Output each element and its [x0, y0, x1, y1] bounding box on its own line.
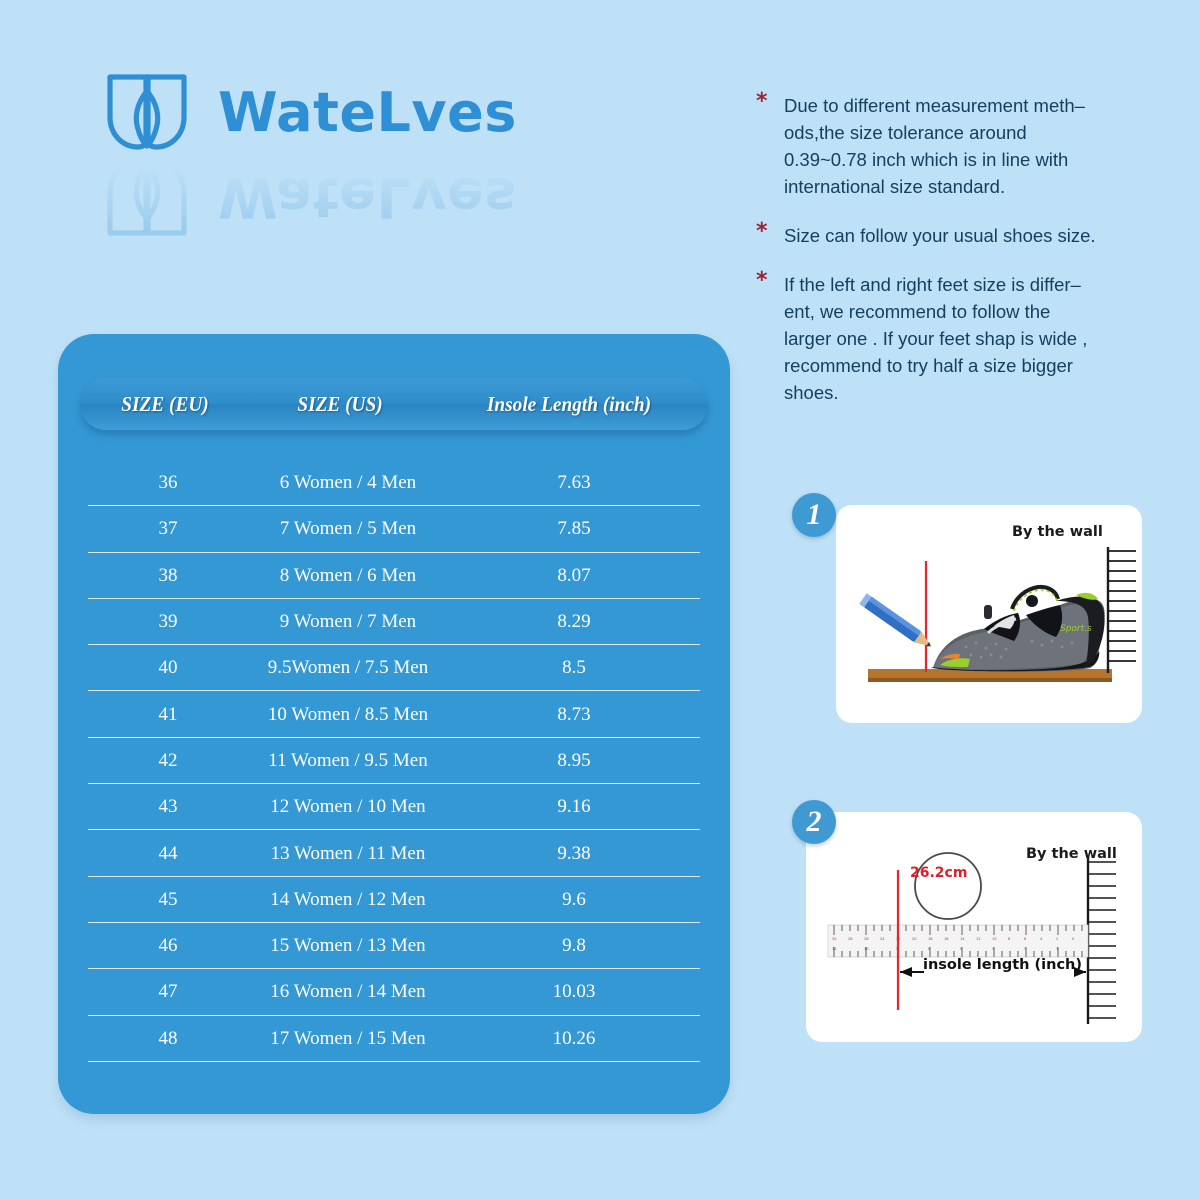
cell-us: 6 Women / 4 Men [248, 473, 448, 492]
twin-leaf-reflection-icon [104, 157, 190, 237]
cell-insole: 9.8 [448, 936, 700, 955]
cell-insole: 10.26 [448, 1029, 700, 1048]
cell-us: 9.5Women / 7.5 Men [248, 658, 448, 677]
cell-insole: 8.73 [448, 705, 700, 724]
size-chart-panel: SIZE (EU) SIZE (US) Insole Length (inch)… [58, 334, 730, 1114]
table-row: 40 9.5Women / 7.5 Men 8.5 [88, 645, 700, 691]
cell-us: 15 Women / 13 Men [248, 936, 448, 955]
note-text: Due to different measurement meth– ods,t… [784, 92, 1085, 200]
cell-us: 7 Women / 5 Men [248, 519, 448, 538]
cell-insole: 8.5 [448, 658, 700, 677]
svg-text:10: 10 [992, 937, 997, 941]
table-row: 37 7 Women / 5 Men 7.85 [88, 506, 700, 552]
svg-text:Sport.s: Sport.s [1060, 624, 1092, 634]
logo-reflection: WateLves [104, 156, 564, 238]
cell-eu: 43 [88, 797, 248, 816]
cell-eu: 38 [88, 566, 248, 585]
note-text: Size can follow your usual shoes size. [784, 222, 1096, 249]
svg-text:18: 18 [928, 937, 933, 941]
table-row: 44 13 Women / 11 Men 9.38 [88, 830, 700, 876]
cell-us: 14 Women / 12 Men [248, 890, 448, 909]
table-row: 42 11 Women / 9.5 Men 8.95 [88, 738, 700, 784]
cell-insole: 7.63 [448, 473, 700, 492]
cell-eu: 42 [88, 751, 248, 770]
table-row: 48 17 Women / 15 Men 10.26 [88, 1016, 700, 1062]
cell-eu: 46 [88, 936, 248, 955]
brand-name: WateLves [218, 86, 517, 140]
cell-eu: 45 [88, 890, 248, 909]
note-item: * If the left and right feet size is dif… [756, 271, 1156, 406]
insole-length-label: insole length (inch) [923, 957, 1082, 973]
cell-eu: 44 [88, 844, 248, 863]
step-2-badge: 2 [792, 800, 836, 844]
cell-us: 10 Women / 8.5 Men [248, 705, 448, 724]
cell-eu: 41 [88, 705, 248, 724]
cell-eu: 37 [88, 519, 248, 538]
cell-us: 13 Women / 11 Men [248, 844, 448, 863]
svg-text:26: 26 [864, 937, 869, 941]
svg-text:20: 20 [912, 937, 917, 941]
size-notes-list: * Due to different measurement meth– ods… [756, 92, 1156, 428]
cell-eu: 40 [88, 658, 248, 677]
cell-us: 9 Women / 7 Men [248, 612, 448, 631]
cell-insole: 9.16 [448, 797, 700, 816]
svg-text:24: 24 [880, 937, 885, 941]
cell-insole: 8.07 [448, 566, 700, 585]
wall-label-step-2: By the wall [1026, 846, 1117, 862]
svg-text:3: 3 [1024, 947, 1026, 951]
cell-us: 16 Women / 14 Men [248, 982, 448, 1001]
svg-text:1: 1 [1056, 947, 1058, 951]
note-item: * Size can follow your usual shoes size. [756, 222, 1156, 249]
svg-text:2: 2 [1056, 937, 1058, 941]
cell-us: 12 Women / 10 Men [248, 797, 448, 816]
measurement-value: 26.2cm [910, 865, 967, 881]
table-row: 38 8 Women / 6 Men 8.07 [88, 553, 700, 599]
column-header-insole: Insole Length (inch) [441, 392, 697, 417]
size-table-body: 36 6 Women / 4 Men 7.63 37 7 Women / 5 M… [88, 460, 700, 1062]
cell-insole: 9.6 [448, 890, 700, 909]
step-1-badge: 1 [792, 493, 836, 537]
cell-eu: 47 [88, 982, 248, 1001]
wall-label-step-1: By the wall [1012, 524, 1103, 540]
cell-eu: 48 [88, 1029, 248, 1048]
table-row: 36 6 Women / 4 Men 7.63 [88, 460, 700, 506]
brand-logo: WateLves WateLves [104, 72, 564, 232]
cell-insole: 9.38 [448, 844, 700, 863]
cell-insole: 8.95 [448, 751, 700, 770]
table-row: 47 16 Women / 14 Men 10.03 [88, 969, 700, 1015]
cell-eu: 36 [88, 473, 248, 492]
brand-name-reflection: WateLves [218, 170, 517, 224]
svg-text:12: 12 [976, 937, 981, 941]
column-header-eu: SIZE (EU) [87, 392, 243, 417]
asterisk-icon: * [756, 271, 784, 406]
cell-eu: 39 [88, 612, 248, 631]
table-row: 39 9 Women / 7 Men 8.29 [88, 599, 700, 645]
cell-insole: 7.85 [448, 519, 700, 538]
table-row: 41 10 Women / 8.5 Men 8.73 [88, 691, 700, 737]
note-text: If the left and right feet size is diffe… [784, 271, 1087, 406]
logo-primary: WateLves [104, 72, 564, 154]
column-header-us: SIZE (US) [257, 392, 423, 417]
table-row: 46 15 Women / 13 Men 9.8 [88, 923, 700, 969]
svg-text:12: 12 [832, 947, 837, 951]
svg-text:14: 14 [960, 937, 965, 941]
svg-text:30: 30 [832, 937, 837, 941]
table-header-row: SIZE (EU) SIZE (US) Insole Length (inch) [80, 378, 708, 430]
cell-us: 11 Women / 9.5 Men [248, 751, 448, 770]
asterisk-icon: * [756, 92, 784, 200]
svg-text:10: 10 [864, 947, 869, 951]
table-row: 43 12 Women / 10 Men 9.16 [88, 784, 700, 830]
cell-insole: 10.03 [448, 982, 700, 1001]
cell-us: 8 Women / 6 Men [248, 566, 448, 585]
svg-text:16: 16 [944, 937, 949, 941]
twin-leaf-icon [104, 73, 190, 153]
table-row: 45 14 Women / 12 Men 9.6 [88, 877, 700, 923]
svg-text:28: 28 [848, 937, 853, 941]
cell-us: 17 Women / 15 Men [248, 1029, 448, 1048]
note-item: * Due to different measurement meth– ods… [756, 92, 1156, 200]
cell-insole: 8.29 [448, 612, 700, 631]
asterisk-icon: * [756, 222, 784, 249]
